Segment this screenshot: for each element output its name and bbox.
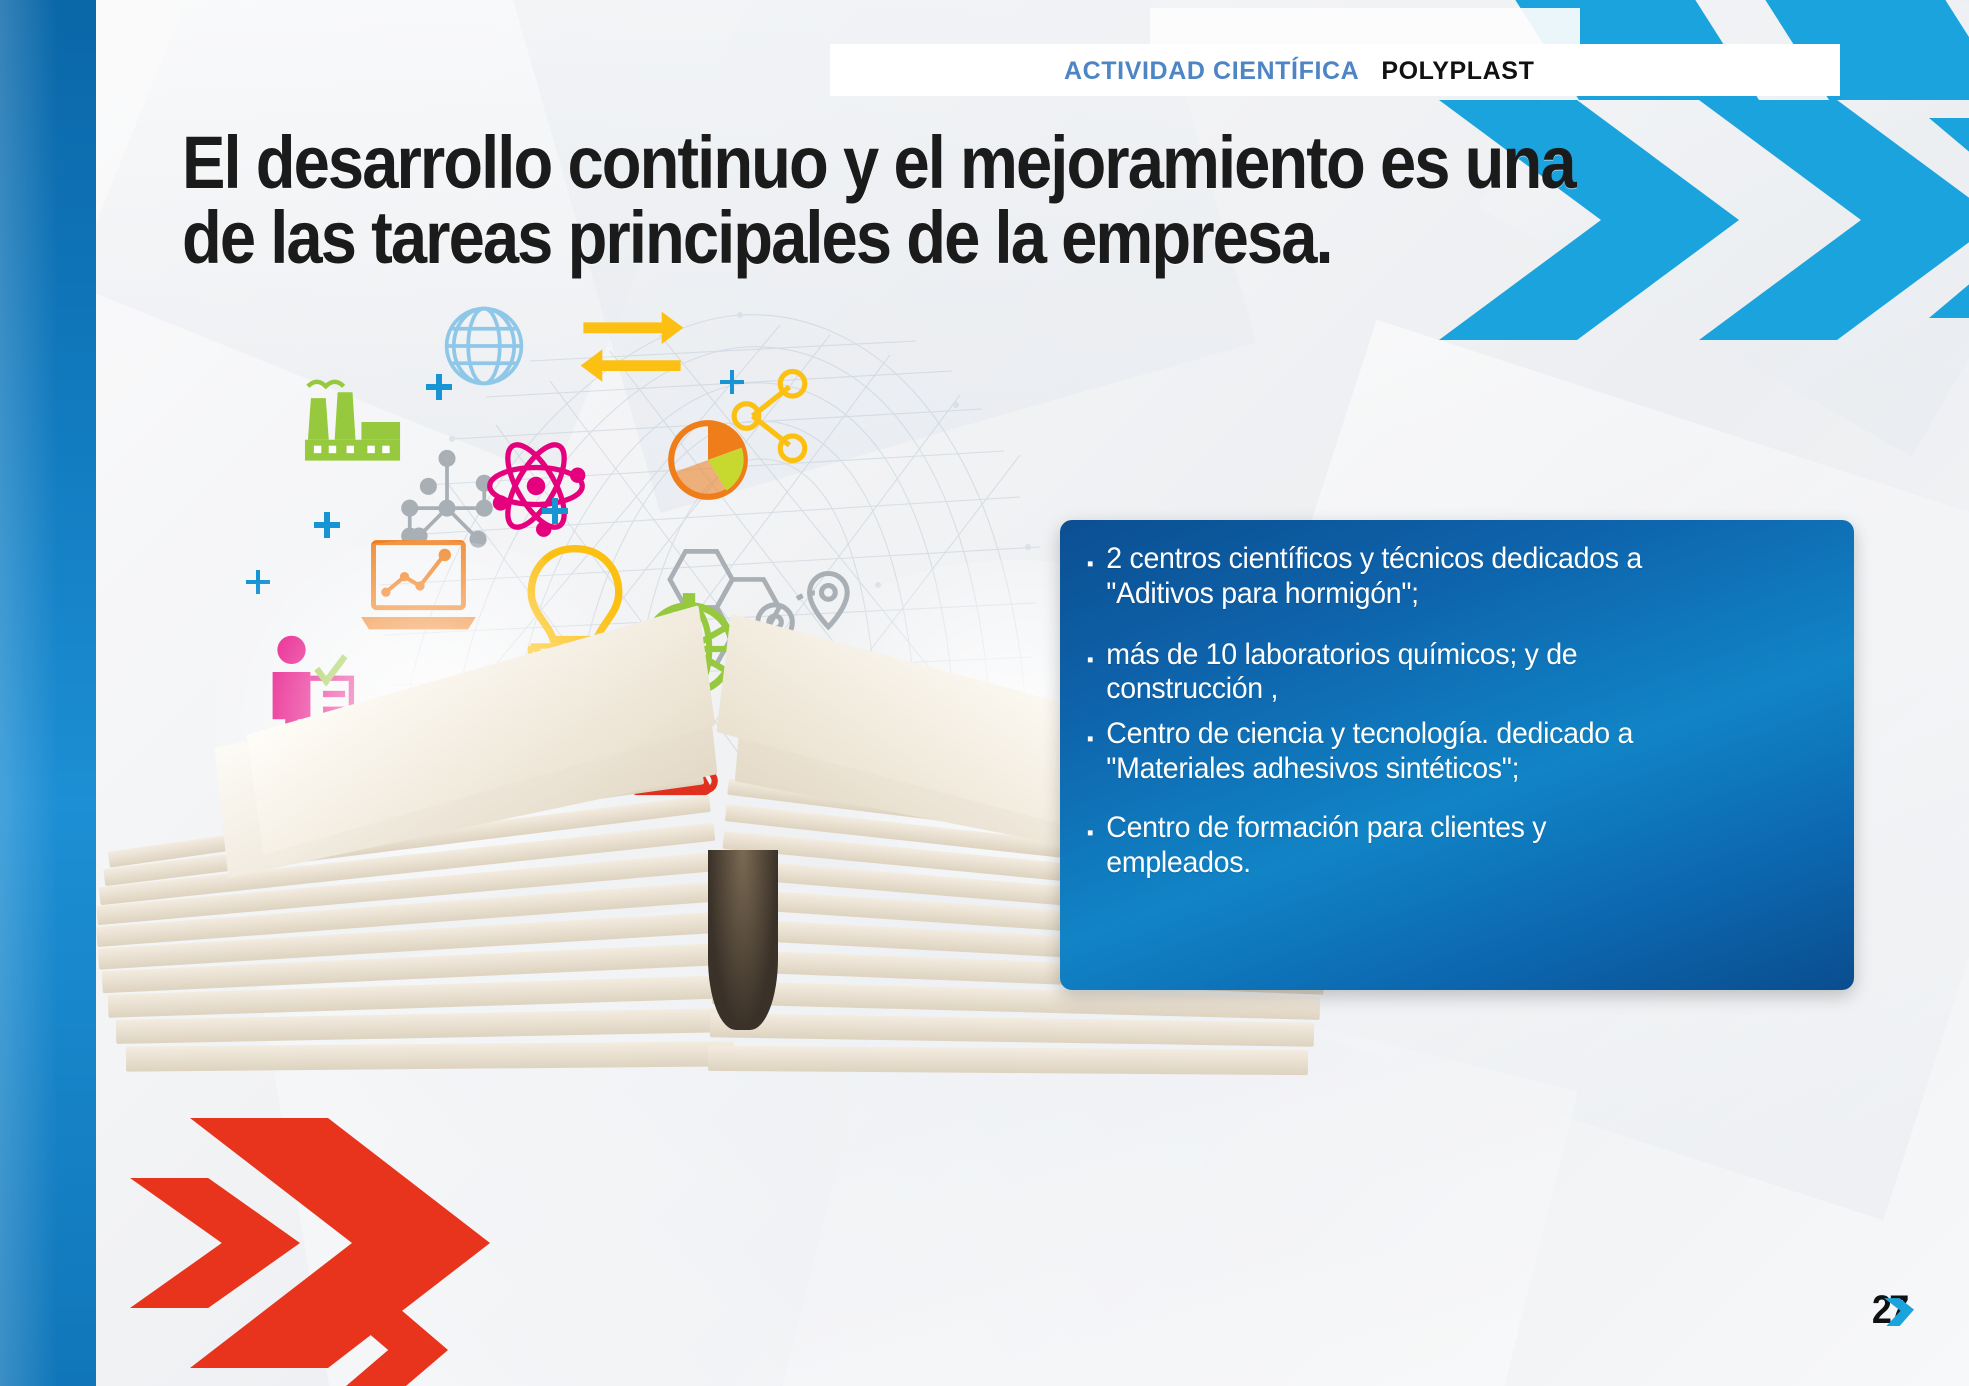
chevron-right-icon [1699,100,1969,340]
list-item-text: Centro de formación para clientes y empl… [1106,811,1790,881]
header-brand-label: POLYPLAST [1381,57,1534,86]
list-item: ▪ 2 centros científicos y técnicos dedic… [1074,542,1790,612]
list-item-text: Centro de ciencia y tecnología. dedicado… [1106,717,1790,787]
content-box: ▪ 2 centros científicos y técnicos dedic… [1060,520,1854,990]
plus-icon [542,498,568,524]
plus-icon [426,374,452,400]
header: ACTIVIDAD CIENTÍFICA POLYPLAST [1064,54,1534,88]
left-bar-sheen [0,0,96,1386]
book-spine [708,850,778,1030]
bullet-list: ▪ 2 centros científicos y técnicos dedic… [1060,520,1854,990]
bullet-marker-icon: ▪ [1074,542,1106,574]
page-title-line-1: El desarrollo continuo y el mejoramiento… [182,125,1432,200]
header-band-upper [1150,8,1580,48]
page-title: El desarrollo continuo y el mejoramiento… [182,125,1432,276]
plus-icon [720,370,744,394]
chevron-right-icon [130,1178,300,1308]
list-item: ▪ más de 10 laboratorios químicos; y de … [1074,638,1790,708]
bullet-marker-icon: ▪ [1074,717,1106,749]
list-item-text: más de 10 laboratorios químicos; y de co… [1106,638,1790,708]
header-section-label: ACTIVIDAD CIENTÍFICA [1064,57,1359,86]
bullet-marker-icon: ▪ [1074,638,1106,670]
page-title-line-2: de las tareas principales de la empresa. [182,200,1432,275]
list-item: ▪ Centro de formación para clientes y em… [1074,811,1790,881]
exchange-arrows-icon [578,304,686,384]
plus-icon [314,512,340,538]
left-accent-bar [0,0,96,1386]
list-item: ▪ Centro de ciencia y tecnología. dedica… [1074,717,1790,787]
slide-root: ACTIVIDAD CIENTÍFICA POLYPLAST El desarr… [0,0,1969,1386]
bullet-marker-icon: ▪ [1074,811,1106,843]
list-item-text: 2 centros científicos y técnicos dedicad… [1106,542,1790,612]
atom-icon [482,432,590,540]
